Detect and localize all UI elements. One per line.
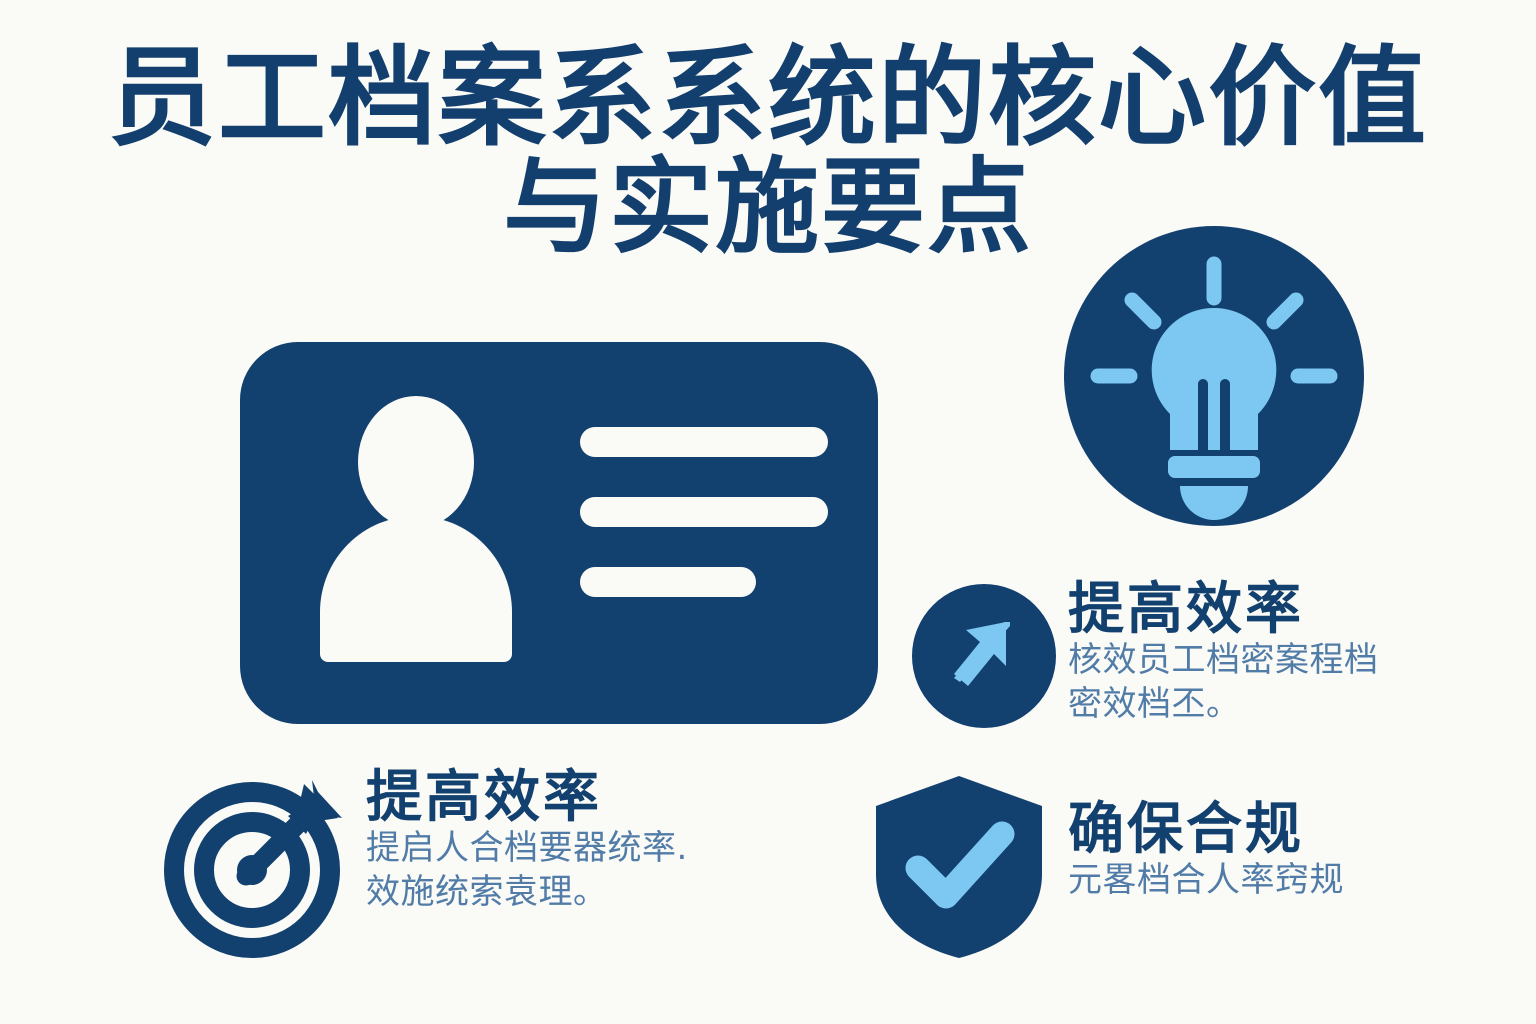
feature-body: 提启人合档要器统率. 效施统索袁理。 xyxy=(366,827,796,914)
feature-heading: 确保合规 xyxy=(1068,800,1468,859)
feature-heading: 提高效率 xyxy=(366,768,796,827)
feature-body-line: 提启人合档要器统率. xyxy=(366,827,796,871)
feature-body: 元畧档合人率窍规 xyxy=(1068,859,1468,903)
id-card-icon xyxy=(240,342,878,724)
feature-compliance-text: 确保合规 元畧档合人率窍规 xyxy=(1068,800,1468,903)
feature-compliance: 确保合规 元畧档合人率窍规 xyxy=(870,772,1470,962)
feature-body: 核效员工档密案程档 密效档丕。 xyxy=(1068,639,1468,726)
infographic-poster: 员工档案系系统的核心价值 与实施要点 xyxy=(0,0,1536,1024)
target-arrow-icon xyxy=(166,774,346,954)
shield-check-icon xyxy=(870,772,1048,962)
arrow-up-right-circle-icon xyxy=(910,582,1058,730)
feature-body-line: 核效员工档密案程档 xyxy=(1068,639,1468,683)
feature-body-line: 元畧档合人率窍规 xyxy=(1068,859,1468,903)
title-line-1: 员工档案系系统的核心价值 xyxy=(0,44,1536,154)
feature-efficiency-right: 提高效率 核效员工档密案程档 密效档丕。 xyxy=(910,578,1470,778)
feature-efficiency-right-text: 提高效率 核效员工档密案程档 密效档丕。 xyxy=(1068,580,1468,726)
feature-heading: 提高效率 xyxy=(1068,580,1468,639)
lightbulb-icon xyxy=(1062,224,1366,528)
feature-body-line: 密效档丕。 xyxy=(1068,683,1468,727)
feature-efficiency-left: 提高效率 提启人合档要器统率. 效施统索袁理。 xyxy=(166,768,806,968)
feature-efficiency-left-text: 提高效率 提启人合档要器统率. 效施统索袁理。 xyxy=(366,768,796,914)
feature-body-line: 效施统索袁理。 xyxy=(366,871,796,915)
